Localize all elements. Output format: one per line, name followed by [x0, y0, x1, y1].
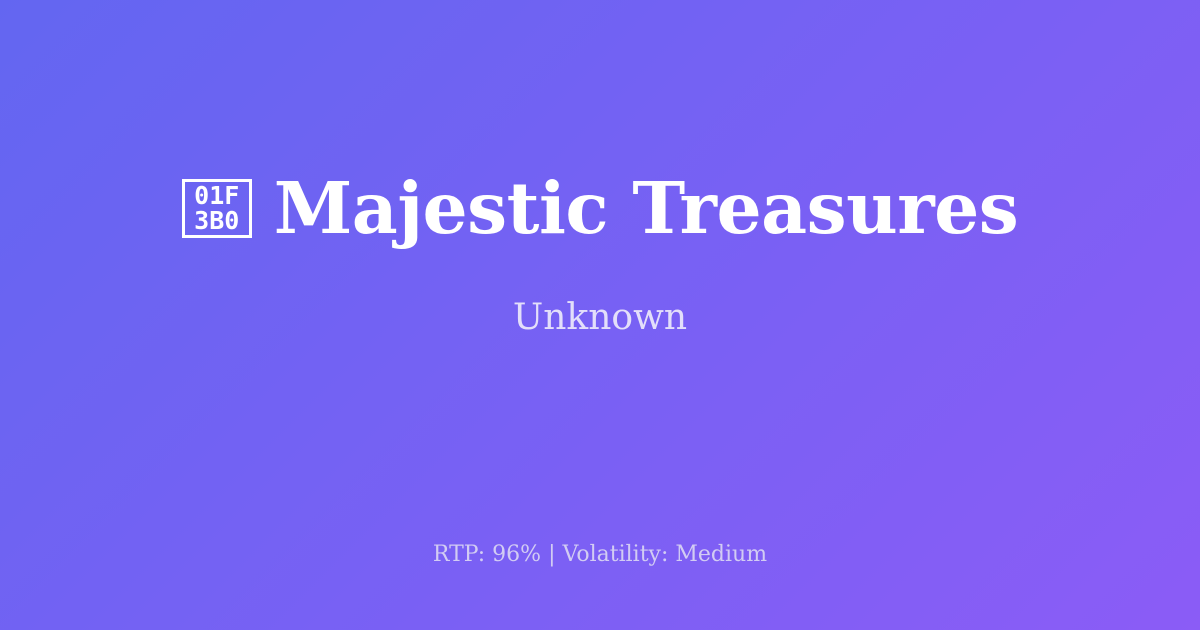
- card-main-content: 01F 3B0 Majestic Treasures Unknown: [0, 0, 1200, 508]
- game-title: Majestic Treasures: [274, 171, 1019, 246]
- card-footer: RTP: 96% | Volatility: Medium: [0, 542, 1200, 568]
- slot-machine-icon: 01F 3B0: [182, 179, 252, 238]
- slot-machine-icon-codepoint-high: 01F: [194, 183, 239, 208]
- og-share-card: 01F 3B0 Majestic Treasures Unknown RTP: …: [0, 0, 1200, 630]
- slot-machine-icon-codepoint-low: 3B0: [194, 208, 239, 233]
- title-row: 01F 3B0 Majestic Treasures: [182, 171, 1019, 246]
- game-stats: RTP: 96% | Volatility: Medium: [433, 542, 767, 568]
- game-provider: Unknown: [513, 298, 687, 338]
